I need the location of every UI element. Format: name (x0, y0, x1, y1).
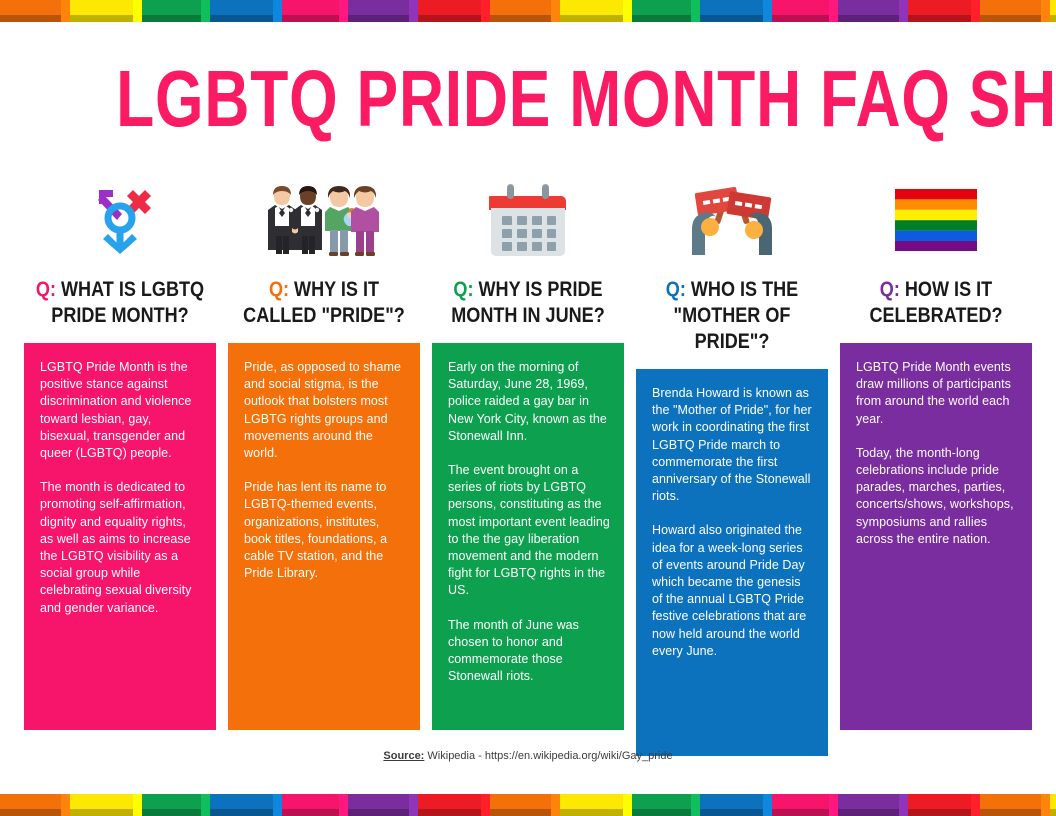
answer-paragraph: The event brought on a series of riots b… (448, 462, 610, 600)
faq-column-2: Q: WHY IS IT CALLED "PRIDE"? Pride, as o… (226, 175, 422, 756)
answer-paragraph: Pride, as opposed to shame and social st… (244, 359, 406, 462)
faq-answer-card-5: LGBTQ Pride Month events draw millions o… (840, 343, 1032, 730)
border-block (0, 0, 70, 22)
answer-paragraph: The month of June was chosen to honor an… (448, 617, 610, 686)
answer-paragraph: LGBTQ Pride Month is the positive stance… (40, 359, 202, 462)
border-block (282, 0, 348, 22)
q-prefix: Q: (880, 278, 900, 301)
answer-paragraph: Early on the morning of Saturday, June 2… (448, 359, 610, 445)
bottom-rainbow-border (0, 794, 1056, 816)
same-sex-couples-icon (226, 175, 422, 265)
rainbow-flag-icon (838, 175, 1034, 265)
border-block (70, 794, 142, 816)
faq-answer-card-1: LGBTQ Pride Month is the positive stance… (24, 343, 216, 730)
border-block (282, 794, 348, 816)
source-text: Wikipedia - https://en.wikipedia.org/wik… (427, 750, 672, 762)
border-block (908, 794, 980, 816)
border-block (980, 794, 1050, 816)
border-block (632, 794, 700, 816)
q-prefix: Q: (269, 278, 289, 301)
border-block (348, 794, 418, 816)
border-block (70, 0, 142, 22)
faq-column-3: Q: WHY IS PRIDE MONTH IN JUNE? Early on … (430, 175, 626, 756)
faq-question-3: Q: WHY IS PRIDE MONTH IN JUNE? (444, 277, 613, 329)
border-block (142, 794, 210, 816)
faq-question-4: Q: WHO IS THE "MOTHER OF PRIDE"? (648, 277, 817, 355)
faq-column-1: Q: WHAT IS LGBTQ PRIDE MONTH? LGBTQ Prid… (22, 175, 218, 756)
border-block (560, 0, 632, 22)
q-prefix: Q: (36, 278, 56, 301)
faq-question-2: Q: WHY IS IT CALLED "PRIDE"? (240, 277, 409, 329)
q-prefix: Q: (453, 278, 473, 301)
faq-question-5: Q: HOW IS IT CELEBRATED? (852, 277, 1021, 329)
border-block (700, 0, 772, 22)
border-block (980, 0, 1050, 22)
border-block (908, 0, 980, 22)
border-block (1050, 0, 1056, 22)
faq-question-1: Q: WHAT IS LGBTQ PRIDE MONTH? (36, 277, 205, 329)
answer-paragraph: The month is dedicated to promoting self… (40, 479, 202, 617)
question-text: WHAT IS LGBTQ PRIDE MONTH? (51, 278, 204, 327)
source-label: Source: (383, 750, 424, 762)
border-block (772, 0, 838, 22)
border-block (560, 794, 632, 816)
border-block (418, 794, 490, 816)
faq-column-4: Q: WHO IS THE "MOTHER OF PRIDE"? Brenda … (634, 175, 830, 756)
border-block (838, 794, 908, 816)
q-prefix: Q: (666, 278, 686, 301)
calendar-icon (430, 175, 626, 265)
question-text: WHY IS PRIDE MONTH IN JUNE? (451, 278, 605, 327)
border-block (490, 794, 560, 816)
faq-answer-card-4: Brenda Howard is known as the "Mother of… (636, 369, 828, 756)
border-block (348, 0, 418, 22)
faq-column-5: Q: HOW IS IT CELEBRATED? LGBTQ Pride Mon… (838, 175, 1034, 756)
border-block (838, 0, 908, 22)
answer-paragraph: Today, the month-long celebrations inclu… (856, 445, 1018, 548)
transgender-symbol-icon (22, 175, 218, 265)
question-text: WHO IS THE "MOTHER OF PRIDE"? (674, 278, 799, 353)
border-block (418, 0, 490, 22)
faq-answer-card-3: Early on the morning of Saturday, June 2… (432, 343, 624, 730)
faq-columns: Q: WHAT IS LGBTQ PRIDE MONTH? LGBTQ Prid… (22, 175, 1034, 756)
question-text: WHY IS IT CALLED "PRIDE"? (243, 278, 405, 327)
border-block (142, 0, 210, 22)
border-block (210, 0, 282, 22)
border-block (632, 0, 700, 22)
page-title: LGBTQ PRIDE MONTH FAQ SHEET (116, 56, 940, 142)
border-block (0, 794, 70, 816)
protest-signs-icon (634, 175, 830, 265)
faq-answer-card-2: Pride, as opposed to shame and social st… (228, 343, 420, 730)
answer-paragraph: Pride has lent its name to LGBTQ-themed … (244, 479, 406, 582)
border-block (772, 794, 838, 816)
answer-paragraph: Brenda Howard is known as the "Mother of… (652, 385, 814, 505)
border-block (1050, 794, 1056, 816)
border-block (490, 0, 560, 22)
answer-paragraph: LGBTQ Pride Month events draw millions o… (856, 359, 1018, 428)
answer-paragraph: Howard also originated the idea for a we… (652, 522, 814, 660)
border-block (210, 794, 282, 816)
border-block (700, 794, 772, 816)
source-line: Source: Wikipedia - https://en.wikipedia… (0, 750, 1056, 762)
top-rainbow-border (0, 0, 1056, 22)
